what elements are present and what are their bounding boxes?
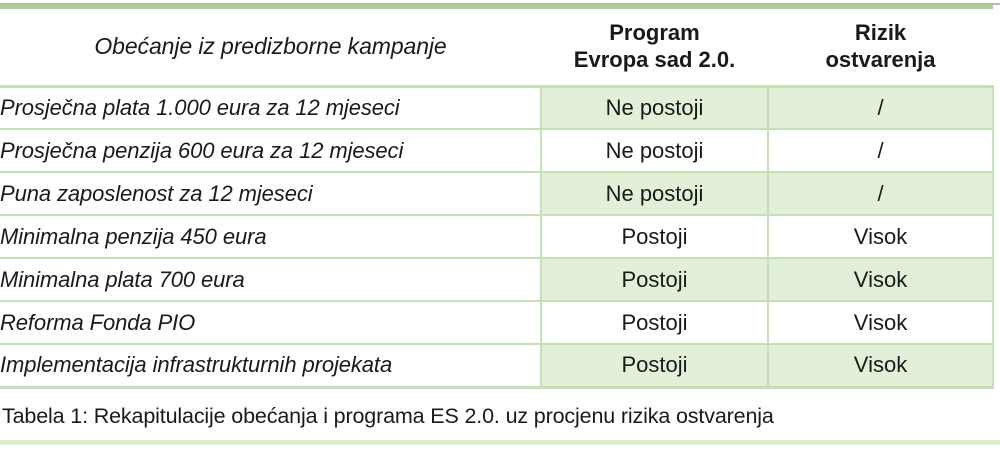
cell-risk: Visok xyxy=(768,258,993,301)
cell-program: Postoji xyxy=(541,301,768,344)
cell-program: Postoji xyxy=(541,258,768,301)
table-row: Prosječna penzija 600 eura za 12 mjeseci… xyxy=(0,129,993,172)
table-row: Reforma Fonda PIOPostojiVisok xyxy=(0,301,993,344)
cell-risk: Visok xyxy=(768,215,993,258)
cell-program: Ne postoji xyxy=(541,86,768,129)
column-header-risk-line2: ostvarenja xyxy=(768,47,993,74)
column-header-program: Program Evropa sad 2.0. xyxy=(541,9,768,86)
cell-program: Postoji xyxy=(541,344,768,387)
header-row: Obećanje iz predizborne kampanje Program… xyxy=(0,9,993,86)
bottom-green-rule xyxy=(0,440,1000,445)
table-figure: Obećanje iz predizborne kampanje Program… xyxy=(0,0,1000,453)
cell-risk: / xyxy=(768,86,993,129)
cell-program: Ne postoji xyxy=(541,172,768,215)
cell-promise: Prosječna penzija 600 eura za 12 mjeseci xyxy=(0,129,541,172)
cell-promise: Minimalna plata 700 eura xyxy=(0,258,541,301)
table-row: Implementacija infrastrukturnih projekat… xyxy=(0,344,993,387)
table-body: Prosječna plata 1.000 eura za 12 mjeseci… xyxy=(0,86,993,387)
column-header-program-line2: Evropa sad 2.0. xyxy=(541,47,768,74)
column-header-risk-line1: Rizik xyxy=(768,20,993,47)
cell-risk: Visok xyxy=(768,344,993,387)
cell-risk: Visok xyxy=(768,301,993,344)
cell-risk: / xyxy=(768,172,993,215)
cell-risk: / xyxy=(768,129,993,172)
table-caption: Tabela 1: Rekapitulacije obećanja i prog… xyxy=(2,405,992,429)
column-header-program-line1: Program xyxy=(541,20,768,47)
cell-program: Postoji xyxy=(541,215,768,258)
cell-program: Ne postoji xyxy=(541,129,768,172)
recap-table: Obećanje iz predizborne kampanje Program… xyxy=(0,9,994,389)
column-header-promise: Obećanje iz predizborne kampanje xyxy=(0,9,541,86)
cell-promise: Reforma Fonda PIO xyxy=(0,301,541,344)
table-header: Obećanje iz predizborne kampanje Program… xyxy=(0,9,993,86)
table-row: Puna zaposlenost za 12 mjeseciNe postoji… xyxy=(0,172,993,215)
cell-promise: Puna zaposlenost za 12 mjeseci xyxy=(0,172,541,215)
table-row: Prosječna plata 1.000 eura za 12 mjeseci… xyxy=(0,86,993,129)
cell-promise: Prosječna plata 1.000 eura za 12 mjeseci xyxy=(0,86,541,129)
table-row: Minimalna plata 700 euraPostojiVisok xyxy=(0,258,993,301)
cell-promise: Implementacija infrastrukturnih projekat… xyxy=(0,344,541,387)
column-header-risk: Rizik ostvarenja xyxy=(768,9,993,86)
table-row: Minimalna penzija 450 euraPostojiVisok xyxy=(0,215,993,258)
cell-promise: Minimalna penzija 450 eura xyxy=(0,215,541,258)
